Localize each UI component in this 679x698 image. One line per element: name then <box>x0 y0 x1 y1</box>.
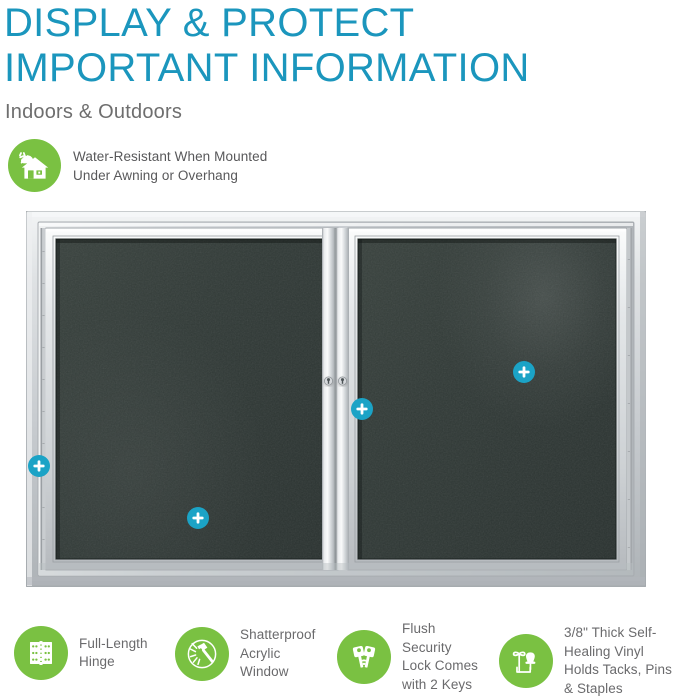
left-door <box>45 228 339 570</box>
house-sun-rain-icon <box>8 139 61 192</box>
feature-label: 3/8" Thick Self- Healing Vinyl Holds Tac… <box>564 624 672 698</box>
page-title-line2: IMPORTANT INFORMATION <box>0 46 679 91</box>
feature-label: Full-Length Hinge <box>79 635 148 672</box>
pushpin-icon <box>499 634 553 688</box>
feature-label: Flush Security Lock Comes with 2 Keys <box>402 620 478 694</box>
page-header: DISPLAY & PROTECT IMPORTANT INFORMATION … <box>0 0 679 124</box>
feature-full-length-hinge: Full-Length Hinge <box>14 626 148 680</box>
water-resistant-line1: Water-Resistant When Mounted <box>73 147 267 166</box>
product-image <box>26 211 646 587</box>
water-resistant-text: Water-Resistant When Mounted Under Awnin… <box>73 147 267 185</box>
keys-icon <box>337 630 391 684</box>
water-resistant-line2: Under Awning or Overhang <box>73 166 267 185</box>
right-door <box>347 228 627 570</box>
feature-self-healing-vinyl: 3/8" Thick Self- Healing Vinyl Holds Tac… <box>499 624 672 698</box>
page-subtitle: Indoors & Outdoors <box>0 91 679 124</box>
door-lock-left <box>324 377 332 385</box>
feature-list: Full-Length Hinge <box>0 608 679 697</box>
right-hinge-edge <box>627 228 632 570</box>
feature-flush-security-lock: Flush Security Lock Comes with 2 Keys <box>337 620 478 694</box>
full-length-hinge-edge <box>41 228 46 570</box>
center-divider <box>322 228 349 570</box>
door-lock-right <box>338 377 346 385</box>
hinge-icon <box>14 626 68 680</box>
page-title-line1: DISPLAY & PROTECT <box>0 0 679 46</box>
water-resistant-badge: Water-Resistant When Mounted Under Awnin… <box>8 139 267 192</box>
feature-label: Shatterproof Acrylic Window <box>240 626 316 682</box>
feature-shatterproof-acrylic-window: Shatterproof Acrylic Window <box>175 626 316 682</box>
hammer-no-icon <box>175 627 229 681</box>
